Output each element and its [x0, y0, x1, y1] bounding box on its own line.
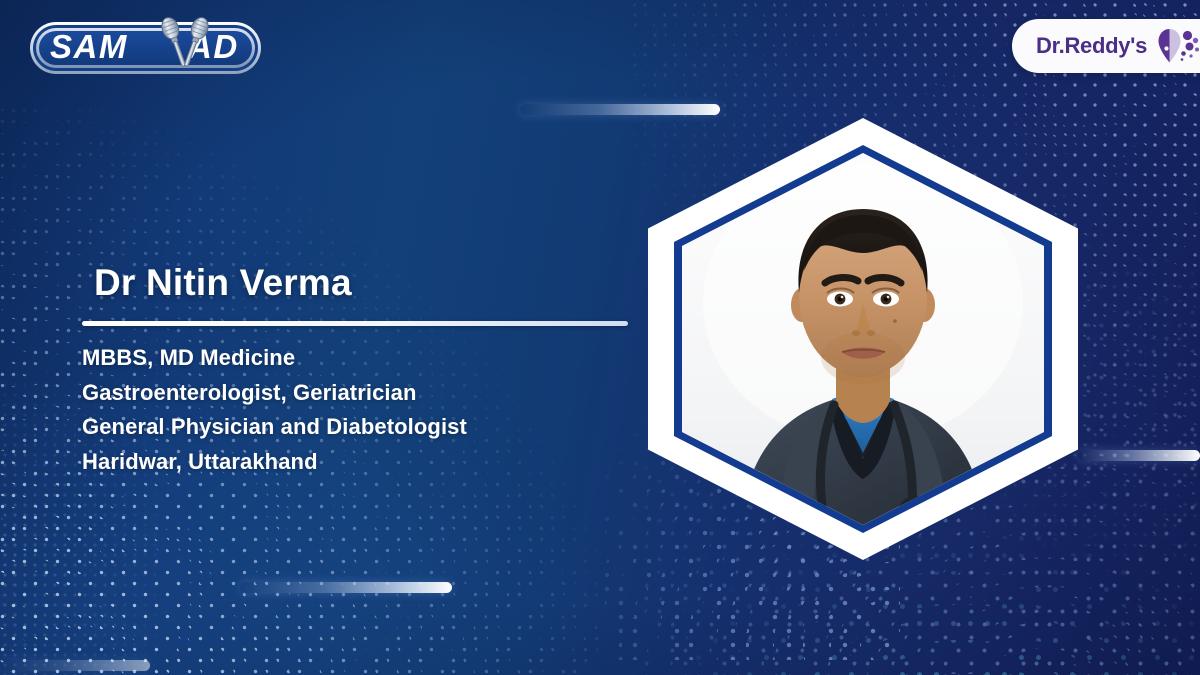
credential-location: Haridwar, Uttarakhand [82, 449, 652, 475]
speaker-credentials-list: MBBS, MD Medicine Gastroenterologist, Ge… [82, 345, 652, 476]
svg-text:SAM: SAM [50, 28, 128, 65]
credential-line: MBBS, MD Medicine [82, 345, 652, 371]
credential-line: Gastroenterologist, Geriatrician [82, 380, 652, 406]
dr-reddys-teardrop-dots-icon [1157, 28, 1199, 64]
light-streak-bottom-left [240, 582, 452, 593]
speaker-name: Dr Nitin Verma [82, 262, 652, 305]
dr-reddys-wordmark: Dr.Reddy's [1036, 33, 1147, 59]
speaker-card-slide: SAM AD Dr.Reddy's [0, 0, 1200, 675]
samvad-logo[interactable]: SAM AD [28, 13, 263, 83]
credential-line: General Physician and Diabetologist [82, 414, 652, 440]
speaker-portrait-hexagon [648, 118, 1078, 560]
light-streak-right [1078, 450, 1200, 461]
light-streak-bottom-edge [0, 660, 150, 671]
speaker-name-divider [82, 321, 628, 326]
speaker-info-block: Dr Nitin Verma MBBS, MD Medicine Gastroe… [82, 262, 652, 475]
light-streak-top [520, 104, 720, 115]
dr-reddys-logo-badge[interactable]: Dr.Reddy's [1012, 19, 1200, 73]
